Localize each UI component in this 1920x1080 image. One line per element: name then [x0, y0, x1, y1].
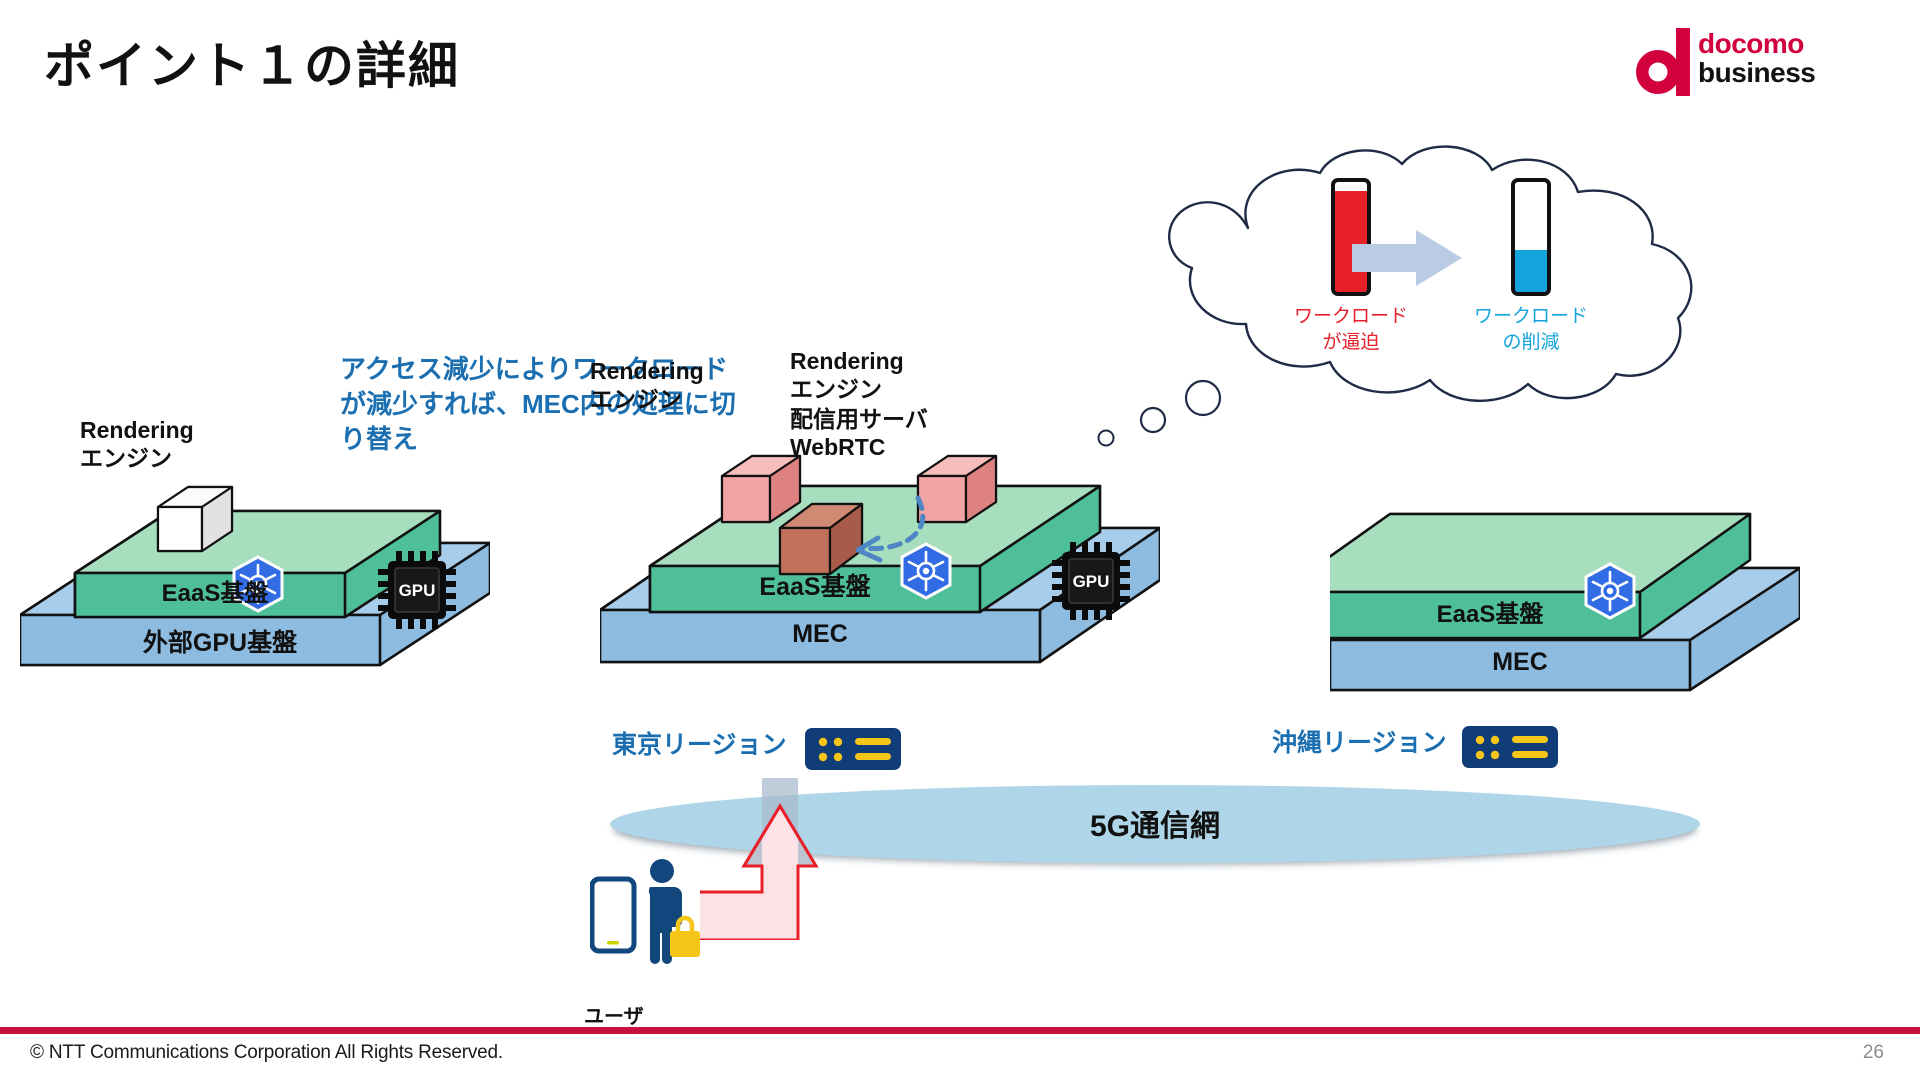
cube-label-delivery-server: 配信用サーバ WebRTC	[790, 406, 928, 461]
page-title: ポイント１の詳細	[44, 26, 460, 98]
smartphone-icon	[592, 879, 634, 951]
page-number: 26	[1863, 1042, 1884, 1064]
footer-copyright: © NTT Communications Corporation All Rig…	[30, 1042, 503, 1064]
footer-rule	[0, 1027, 1920, 1034]
slab-label-external-gpu: 外部GPU基盤	[60, 623, 380, 659]
cube-label-rendering-engine-center-2: Rendering エンジン	[790, 348, 904, 403]
gpu-chip-icon: GPU	[378, 551, 456, 629]
user-group	[590, 855, 710, 995]
workload-gauge-after: ワークロード の削減	[1474, 178, 1588, 355]
cube-label-rendering-engine-center-1: Rendering エンジン	[590, 358, 704, 413]
brand-name-business: business	[1698, 58, 1815, 87]
platform-mec-tokyo: GPU Rendering エンジン 配信用サーバ WebRTC Renderi…	[600, 430, 1160, 725]
slab-label-eaas-right: EaaS基盤	[1360, 594, 1620, 629]
slab-label-eaas-center: EaaS基盤	[675, 567, 955, 603]
slab-label-mec-tokyo: MEC	[640, 620, 1000, 649]
svg-text:GPU: GPU	[399, 581, 436, 600]
platform-external-gpu: GPU Rendering エンジン EaaS基盤 外部GPU基盤	[20, 455, 490, 720]
region-label-okinawa: 沖縄リージョン	[1272, 723, 1447, 759]
cube-label-rendering-engine-left: Rendering エンジン	[80, 417, 194, 472]
user-label: ユーザ	[584, 1000, 644, 1029]
slab-label-eaas-left: EaaS基盤	[100, 573, 330, 608]
user-request-arrow-icon	[700, 770, 865, 940]
brand-name-docomo: docomo	[1698, 29, 1815, 58]
svg-text:GPU: GPU	[1073, 572, 1110, 591]
gauge-fill-low	[1515, 250, 1547, 292]
router-icon-tokyo	[805, 728, 901, 770]
slab-label-mec-okinawa: MEC	[1360, 648, 1680, 677]
gauge-tube-low	[1511, 178, 1551, 296]
workload-before-label: ワークロード が逼迫	[1294, 304, 1408, 355]
docomo-business-logo: docomo business	[1636, 26, 1886, 100]
docomo-d-mark-icon	[1636, 28, 1692, 96]
gpu-chip-icon: GPU	[1052, 542, 1130, 620]
platform-mec-okinawa: EaaS基盤 MEC	[1330, 480, 1800, 725]
workload-transition-arrow-icon	[1352, 230, 1462, 286]
router-icon-okinawa	[1462, 726, 1558, 768]
region-label-tokyo: 東京リージョン	[612, 725, 787, 761]
workload-after-label: ワークロード の削減	[1474, 304, 1588, 355]
